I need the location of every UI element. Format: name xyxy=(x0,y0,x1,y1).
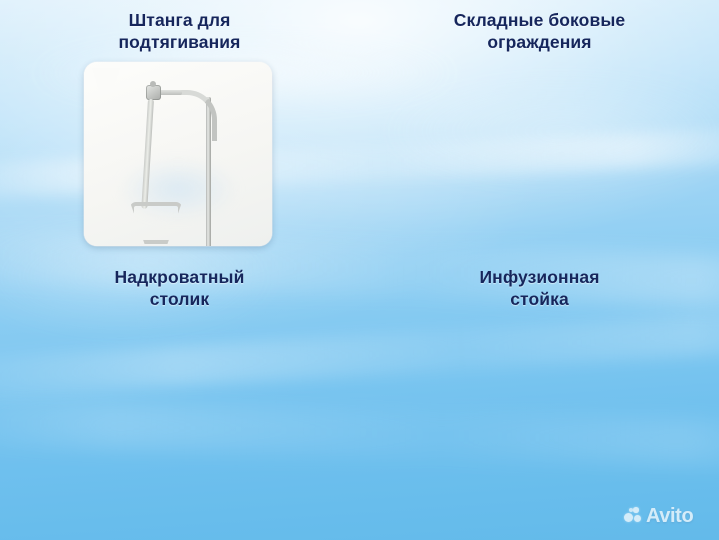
avito-dot-small-top xyxy=(633,507,639,513)
avito-dot-large xyxy=(624,513,633,522)
caption-line-2: стойка xyxy=(360,288,719,310)
photo-scene-trapeze-bar xyxy=(84,62,272,246)
avito-watermark: Avito xyxy=(624,506,693,526)
feature-cell-side-rails: Складные боковые ограждения xyxy=(360,0,719,256)
caption-line-2: столик xyxy=(0,288,359,310)
caption-line-1: Штанга для xyxy=(0,9,359,31)
feature-cell-overbed-table: Надкроватный столик xyxy=(0,258,359,540)
trapeze-triangle-handle xyxy=(130,202,174,236)
caption-line-1: Надкроватный xyxy=(0,266,359,288)
avito-dots-icon xyxy=(624,507,642,525)
avito-dot-medium xyxy=(634,515,641,522)
feature-photo-trapeze-bar[interactable] xyxy=(84,62,272,246)
feature-caption-overbed-table: Надкроватный столик xyxy=(0,258,359,311)
product-feature-poster: Штанга для подтягивания xyxy=(0,0,719,540)
feature-caption-side-rails: Складные боковые ограждения xyxy=(360,0,719,54)
caption-line-2: ограждения xyxy=(360,31,719,53)
feature-grid: Штанга для подтягивания xyxy=(0,0,719,540)
trapeze-strap-clamp xyxy=(146,85,161,100)
caption-line-1: Инфузионная xyxy=(360,266,719,288)
feature-caption-iv-stand: Инфузионная стойка xyxy=(360,258,719,311)
caption-line-2: подтягивания xyxy=(0,31,359,53)
feature-cell-trapeze-bar: Штанга для подтягивания xyxy=(0,0,359,256)
feature-caption-trapeze-bar: Штанга для подтягивания xyxy=(0,0,359,54)
avito-brand-text: Avito xyxy=(646,506,693,526)
caption-line-1: Складные боковые xyxy=(360,9,719,31)
feature-cell-iv-stand: Инфузионная стойка xyxy=(360,258,719,540)
trapeze-clamp-bolt xyxy=(150,81,156,87)
avito-dot-tiny xyxy=(629,508,633,512)
trapeze-curved-arm xyxy=(156,90,217,141)
